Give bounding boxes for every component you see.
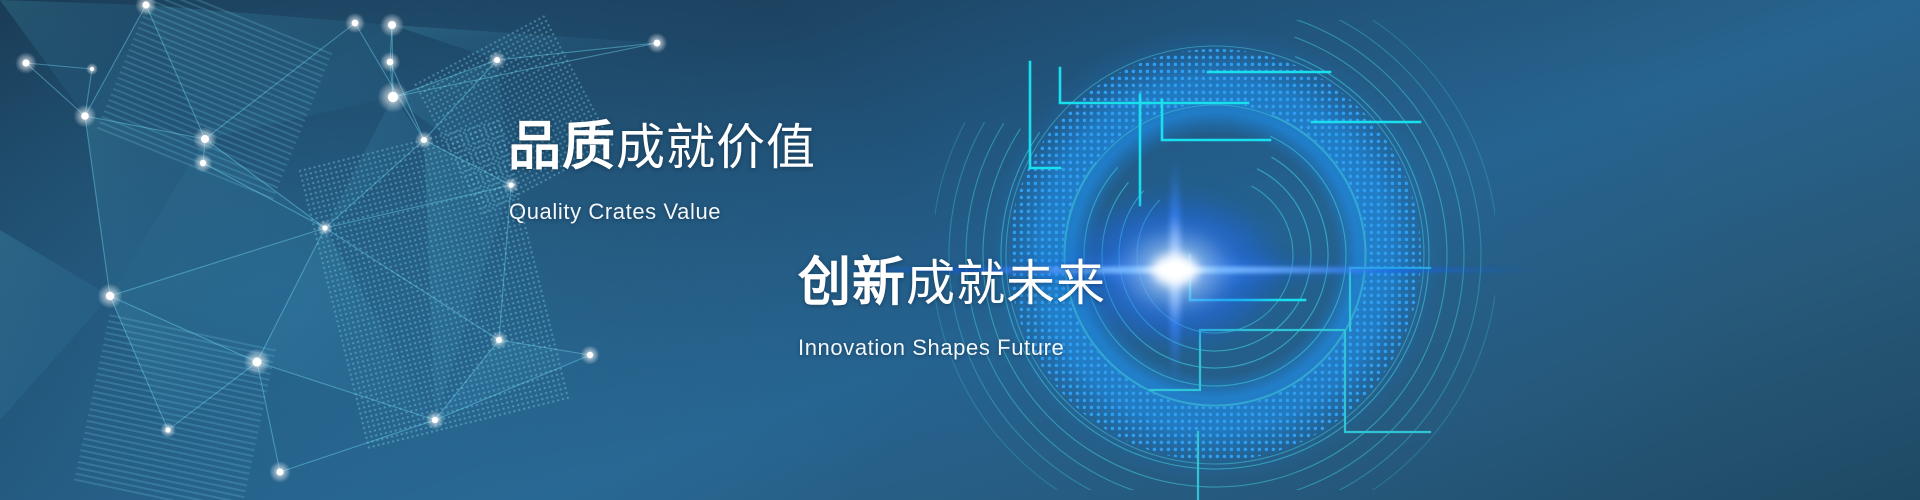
tagline-primary-cn-light: 成就价值 bbox=[616, 121, 816, 175]
mesh-edge bbox=[85, 116, 110, 296]
mesh-edge bbox=[499, 340, 590, 355]
mesh-facet bbox=[393, 60, 511, 185]
mesh-node bbox=[388, 21, 396, 29]
mesh-node-halo bbox=[488, 51, 506, 69]
tagline-secondary-en: Innovation Shapes Future bbox=[798, 335, 1064, 361]
mesh-facet bbox=[435, 340, 590, 420]
mesh-node bbox=[421, 137, 427, 143]
mesh-facet bbox=[0, 230, 110, 420]
mesh-edge bbox=[325, 228, 499, 340]
mesh-node-halo bbox=[74, 105, 97, 128]
mesh-node-halo bbox=[135, 0, 157, 16]
mesh-edge bbox=[110, 296, 168, 430]
mesh-node-halo bbox=[269, 461, 291, 483]
mesh-facet bbox=[424, 140, 511, 420]
network-mesh-graphic bbox=[0, 0, 700, 500]
tagline-secondary-cn-light: 成就未来 bbox=[906, 257, 1106, 311]
mesh-node bbox=[276, 468, 283, 475]
mesh-facet bbox=[0, 0, 146, 116]
ring-glow-band bbox=[985, 25, 1445, 485]
mesh-halftone-patch bbox=[97, 0, 333, 200]
mesh-edge bbox=[393, 43, 657, 97]
ring-dot-band bbox=[935, 20, 1495, 490]
mesh-node-halo bbox=[193, 127, 217, 151]
mesh-edge bbox=[168, 362, 257, 430]
mesh-node bbox=[494, 57, 500, 63]
mesh-node-halo bbox=[15, 52, 37, 74]
mesh-facet bbox=[205, 25, 393, 139]
mesh-nodes bbox=[15, 0, 667, 483]
ring-arc bbox=[1084, 136, 1346, 386]
mesh-node bbox=[165, 427, 170, 432]
mesh-edge bbox=[85, 69, 92, 116]
mesh-node-halo bbox=[490, 331, 508, 349]
mesh-node bbox=[352, 20, 359, 27]
circuit-trace-lower bbox=[1350, 268, 1430, 330]
circuit-trace bbox=[1190, 255, 1305, 300]
hero-banner: 品质成就价值 Quality Crates Value 创新成就未来 Innov… bbox=[0, 0, 1920, 500]
mesh-edge bbox=[26, 63, 92, 69]
mesh-facet bbox=[325, 97, 424, 228]
mesh-edge bbox=[390, 62, 393, 97]
mesh-edge bbox=[257, 362, 280, 472]
mesh-edge bbox=[435, 340, 499, 420]
mesh-node-halo bbox=[244, 349, 271, 376]
mesh-node bbox=[22, 59, 29, 66]
mesh-node-halo bbox=[345, 13, 365, 33]
mesh-node bbox=[142, 1, 149, 8]
mesh-edge bbox=[110, 296, 257, 362]
mesh-facet bbox=[146, 5, 392, 139]
mesh-facet bbox=[85, 116, 205, 296]
mesh-node-halo bbox=[503, 177, 519, 193]
mesh-edge bbox=[390, 62, 424, 140]
mesh-edge bbox=[355, 23, 424, 140]
mesh-node-halo bbox=[647, 33, 667, 53]
mesh-node-halo bbox=[160, 422, 176, 438]
mesh-node bbox=[253, 358, 262, 367]
ring-arc bbox=[935, 20, 1495, 490]
circuit-trace bbox=[1162, 100, 1270, 140]
ring-arc bbox=[1137, 186, 1293, 333]
mesh-halftone-patches bbox=[74, 0, 616, 500]
mesh-node-halo bbox=[317, 220, 333, 236]
mesh-edges bbox=[26, 5, 657, 472]
circuit-trace-lower bbox=[1150, 330, 1430, 432]
mesh-edge bbox=[110, 228, 325, 296]
mesh-halftone-patch bbox=[414, 14, 617, 217]
mesh-facet bbox=[110, 139, 325, 296]
mesh-edge bbox=[435, 355, 590, 420]
mesh-node bbox=[496, 337, 502, 343]
mesh-node bbox=[432, 417, 438, 423]
mesh-facet bbox=[110, 228, 325, 362]
mesh-node-halo bbox=[580, 345, 599, 364]
tech-ring-graphic bbox=[935, 20, 1495, 490]
mesh-node bbox=[587, 352, 593, 358]
tagline-primary-en: Quality Crates Value bbox=[509, 199, 721, 225]
mesh-node bbox=[322, 225, 327, 230]
mesh-facet bbox=[110, 296, 257, 430]
ring-arc bbox=[966, 20, 1464, 490]
mesh-node-halo bbox=[380, 13, 404, 37]
mesh-edge bbox=[392, 25, 393, 97]
mesh-node bbox=[106, 292, 114, 300]
mesh-edge bbox=[85, 116, 205, 139]
mesh-edge bbox=[257, 362, 435, 420]
mesh-node-halo bbox=[193, 153, 212, 172]
mesh-node bbox=[81, 112, 89, 120]
mesh-edge bbox=[497, 43, 657, 60]
mesh-node-halo bbox=[415, 131, 433, 149]
mesh-node-halo bbox=[86, 63, 98, 75]
tagline-primary: 品质成就价值 bbox=[508, 120, 816, 173]
tagline-secondary-cn-strong: 创新 bbox=[798, 253, 906, 312]
ring-arc bbox=[949, 20, 1481, 490]
ring-arc bbox=[1064, 115, 1366, 406]
mesh-facet bbox=[257, 228, 435, 420]
mesh-edge bbox=[85, 5, 146, 116]
circuit-traces-graphic bbox=[0, 0, 1920, 500]
mesh-node-halo bbox=[380, 52, 400, 72]
mesh-node bbox=[654, 40, 661, 47]
mesh-facet bbox=[392, 25, 657, 60]
mesh-edge bbox=[205, 139, 325, 228]
ring-arc bbox=[1119, 169, 1311, 351]
tagline-primary-cn-strong: 品质 bbox=[508, 117, 616, 176]
mesh-edge bbox=[203, 163, 325, 228]
mesh-node bbox=[90, 67, 94, 71]
flare-ray-vertical bbox=[1170, 155, 1181, 385]
mesh-node-halo bbox=[97, 283, 122, 308]
mesh-edge bbox=[393, 60, 497, 97]
mesh-edge bbox=[325, 140, 424, 228]
mesh-edge bbox=[390, 25, 392, 62]
mesh-facet bbox=[85, 5, 205, 139]
mesh-edge bbox=[257, 228, 325, 362]
tagline-secondary: 创新成就未来 bbox=[798, 256, 1106, 309]
mesh-edge bbox=[205, 23, 355, 139]
ring-inner-circles bbox=[1006, 46, 1424, 464]
circuit-trace bbox=[1060, 68, 1150, 103]
mesh-edge bbox=[325, 185, 511, 228]
mesh-node bbox=[388, 92, 398, 102]
mesh-node bbox=[508, 182, 513, 187]
ring-arc bbox=[1102, 157, 1328, 368]
mesh-node-halo bbox=[425, 410, 444, 429]
mesh-node bbox=[200, 160, 206, 166]
mesh-node bbox=[387, 59, 394, 66]
ring-arcs bbox=[935, 20, 1495, 490]
mesh-edge bbox=[146, 5, 205, 139]
flare-core bbox=[1152, 255, 1198, 285]
mesh-edge bbox=[424, 60, 497, 140]
mesh-edge bbox=[280, 420, 435, 472]
mesh-node-halo bbox=[377, 81, 408, 112]
mesh-node bbox=[201, 135, 209, 143]
mesh-halftone-patch bbox=[74, 314, 276, 500]
mesh-edge bbox=[203, 139, 205, 163]
mesh-edge bbox=[26, 63, 85, 116]
mesh-edge bbox=[424, 140, 511, 185]
